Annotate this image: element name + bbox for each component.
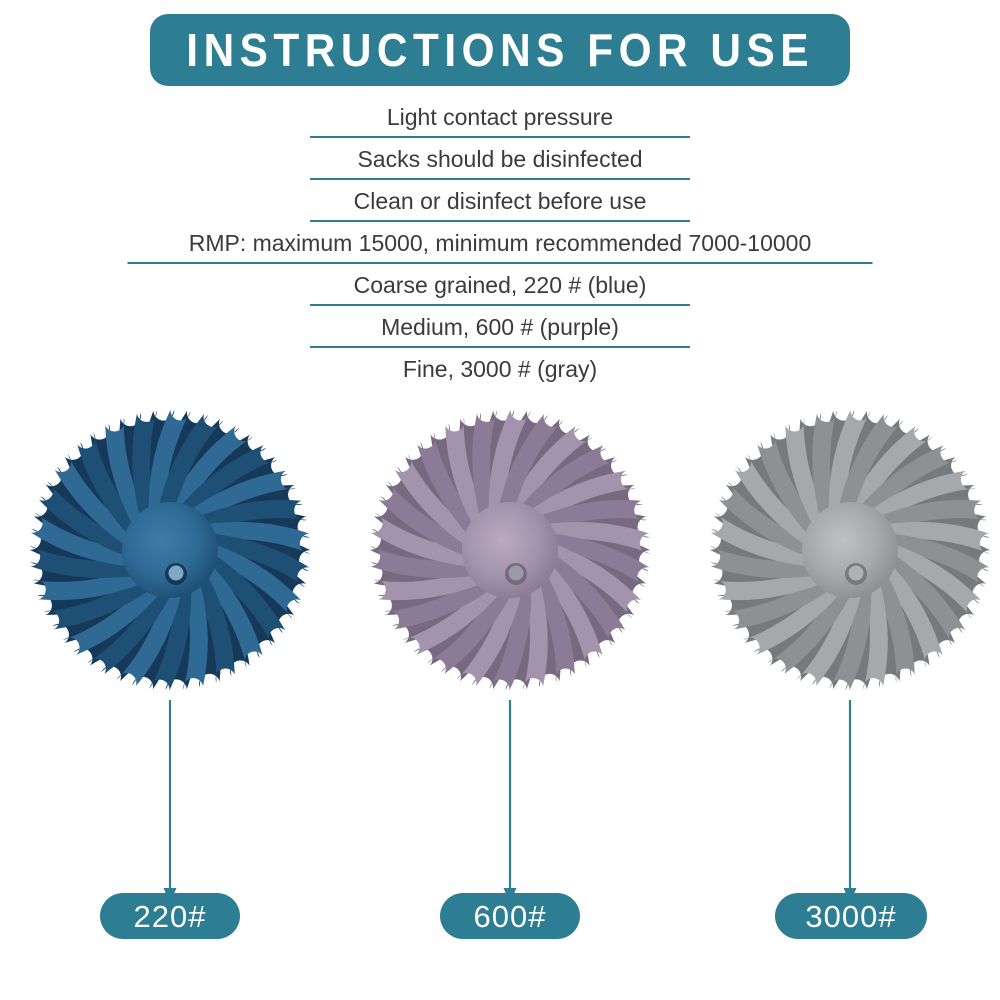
bristle-back xyxy=(191,554,249,676)
bristle-back xyxy=(506,567,540,690)
bristle xyxy=(193,552,262,668)
bristle xyxy=(87,578,178,674)
bristle xyxy=(490,571,532,691)
bristle-back xyxy=(799,413,834,539)
page-title: INSTRUCTIONS FOR USE xyxy=(186,27,814,73)
bristle xyxy=(868,522,990,554)
bristle-back xyxy=(459,413,494,539)
bristle xyxy=(182,500,307,535)
bristle-back xyxy=(52,574,169,643)
instruction-list: Light contact pressure Sacks should be d… xyxy=(0,96,1000,390)
bristle xyxy=(472,410,498,534)
bristle xyxy=(797,575,865,686)
instruction-text: RMP: maximum 15000, minimum recommended … xyxy=(189,232,812,255)
arbor-hole-shadow xyxy=(165,563,187,585)
bristle-back xyxy=(866,561,901,687)
instruction-text: Coarse grained, 220 # (blue) xyxy=(354,274,647,297)
grit-badge-220[interactable]: 220# xyxy=(100,893,240,939)
grit-badge-label: 220# xyxy=(134,901,207,932)
bristle xyxy=(724,571,844,629)
arbor-hole xyxy=(169,566,184,581)
bristle-back xyxy=(535,534,647,604)
instruction-text: Light contact pressure xyxy=(387,106,613,129)
bristle-back xyxy=(370,563,496,589)
bristle xyxy=(77,432,146,548)
bristle-back xyxy=(141,410,175,533)
bristle-back xyxy=(781,576,863,681)
disc-hub-plate xyxy=(96,476,244,624)
bristle-back xyxy=(876,547,955,658)
radial-bristle-disc-220 xyxy=(25,405,315,695)
arbor-hole-shadow xyxy=(505,563,527,585)
bristle xyxy=(829,410,871,530)
bristle xyxy=(868,559,915,683)
bristle-back xyxy=(538,540,635,633)
bristle-back xyxy=(171,457,288,526)
bristle xyxy=(735,454,823,555)
bristle-back xyxy=(717,569,842,615)
grit-badge-label: 600# xyxy=(474,901,547,932)
instruction-text: Medium, 600 # (purple) xyxy=(381,316,619,339)
bristle-back xyxy=(871,554,929,676)
bristle xyxy=(155,414,223,525)
grit-badge-label: 3000# xyxy=(805,901,896,932)
bristle xyxy=(149,410,191,530)
grit-badge-600[interactable]: 600# xyxy=(440,893,580,939)
bristle-back xyxy=(30,563,156,589)
instruction-row: Sacks should be disinfected xyxy=(0,138,1000,180)
bristle xyxy=(373,565,498,600)
bristle xyxy=(31,513,147,568)
connector-arrow-3000 xyxy=(838,700,862,905)
bristle xyxy=(384,571,504,629)
bristle-back xyxy=(732,574,849,643)
bristle xyxy=(719,482,823,562)
bristle-back xyxy=(101,576,183,681)
bristle xyxy=(711,513,827,568)
bristle xyxy=(537,538,641,618)
bristle-back xyxy=(370,529,490,573)
bristle-back xyxy=(30,529,150,573)
bristle-back xyxy=(875,534,987,604)
bristle xyxy=(197,538,301,618)
bristle xyxy=(39,482,143,562)
bristle-back xyxy=(132,572,189,689)
bristle xyxy=(533,552,602,668)
bristle xyxy=(743,575,852,655)
bristle xyxy=(168,445,277,525)
disc-hub-inner xyxy=(802,502,898,598)
bristle xyxy=(713,565,838,600)
bristle xyxy=(197,545,285,646)
bristle xyxy=(767,578,858,674)
bristle xyxy=(842,426,933,522)
connector-arrow-600 xyxy=(498,700,522,905)
bristle-back xyxy=(821,410,855,533)
instruction-text: Fine, 3000 # (gray) xyxy=(403,358,597,381)
bristle-back xyxy=(526,561,561,687)
bristle xyxy=(105,418,152,542)
bristle-back xyxy=(846,567,880,690)
disc-hub-plate xyxy=(776,476,924,624)
bristle-back xyxy=(710,529,830,573)
bristle xyxy=(44,571,164,629)
instruction-text: Sacks should be disinfected xyxy=(357,148,642,171)
bristle-back xyxy=(518,485,643,531)
bristle xyxy=(457,575,525,686)
bristle-back xyxy=(186,561,221,687)
bristle-back xyxy=(46,467,143,560)
bristle-back xyxy=(536,547,615,658)
bristle-back xyxy=(196,547,275,658)
bristle-back xyxy=(511,457,628,526)
bristle xyxy=(162,426,253,522)
bristle-back xyxy=(481,410,515,533)
bristle xyxy=(710,546,832,578)
bristle-back xyxy=(74,577,177,665)
radial-bristle-disc-3000 xyxy=(705,405,995,695)
bristle xyxy=(855,471,975,529)
bristle-back xyxy=(864,511,990,537)
bristle-back xyxy=(497,419,579,524)
bristle xyxy=(379,482,483,562)
bristle xyxy=(812,410,838,534)
bristle xyxy=(528,559,575,683)
radial-bristle-disc-600 xyxy=(365,405,655,695)
bristle xyxy=(445,418,492,542)
bristle xyxy=(193,532,309,587)
disc-hub-inner xyxy=(462,502,558,598)
bristle-back xyxy=(90,424,148,546)
bristle-back xyxy=(812,572,869,689)
bristle xyxy=(371,513,487,568)
arbor-hole-shadow xyxy=(845,563,867,585)
instruction-row: Fine, 3000 # (gray) xyxy=(0,348,1000,390)
bristle xyxy=(862,500,987,535)
bristle-back xyxy=(151,411,208,528)
bristle-back xyxy=(851,457,968,526)
bristle xyxy=(830,571,872,691)
disc-hub-inner xyxy=(122,502,218,598)
bristle-back xyxy=(166,567,200,690)
bristle xyxy=(370,546,492,578)
bristle xyxy=(848,445,957,525)
bristle-back xyxy=(710,563,836,589)
bristle-back xyxy=(745,442,824,553)
bristle-back xyxy=(843,435,946,523)
bristle xyxy=(522,565,548,689)
bristle-back xyxy=(377,569,502,615)
bristle-back xyxy=(754,577,857,665)
bristle-back xyxy=(441,576,523,681)
bristle-back xyxy=(531,554,589,676)
bristle-back xyxy=(770,424,828,546)
bristle-back xyxy=(878,540,975,633)
bristle-back xyxy=(524,511,650,537)
bristle-back xyxy=(837,419,919,524)
bristle xyxy=(403,575,512,655)
bristle xyxy=(508,445,617,525)
bristle-back xyxy=(190,527,310,571)
bristle xyxy=(150,571,192,691)
bristle xyxy=(537,545,625,646)
bristle-back xyxy=(831,411,888,528)
arbor-hole xyxy=(509,566,524,581)
bristle-back xyxy=(714,496,826,566)
bristle-back xyxy=(858,485,983,531)
bristle xyxy=(489,410,531,530)
bristle xyxy=(55,454,143,555)
instructions-header-banner: INSTRUCTIONS FOR USE xyxy=(150,14,850,86)
grit-badge-3000[interactable]: 3000# xyxy=(775,893,927,939)
bristle-back xyxy=(374,496,486,566)
bristle-back xyxy=(37,569,162,615)
bristle xyxy=(877,538,981,618)
bristle xyxy=(515,471,635,529)
bristle xyxy=(873,552,942,668)
instruction-row: Clean or disinfect before use xyxy=(0,180,1000,222)
bristle xyxy=(877,545,965,646)
arbor-hole xyxy=(849,566,864,581)
bristle xyxy=(63,575,172,655)
bristle-back xyxy=(530,527,650,571)
connector-arrow-220 xyxy=(158,700,182,905)
bristle xyxy=(188,522,310,554)
disc-hub-plate xyxy=(436,476,584,624)
bristle xyxy=(528,522,650,554)
bristle xyxy=(175,471,295,529)
instruction-row: Coarse grained, 220 # (blue) xyxy=(0,264,1000,306)
bristle-back xyxy=(195,534,307,604)
bristle-back xyxy=(491,411,548,528)
bristle-back xyxy=(157,419,239,524)
bristle-back xyxy=(163,435,266,523)
bristle-back xyxy=(119,413,154,539)
bristle xyxy=(522,500,647,535)
bristle-back xyxy=(503,435,606,523)
bristle xyxy=(30,546,152,578)
bristle xyxy=(117,575,185,686)
bristle xyxy=(33,565,158,600)
bristle xyxy=(427,578,518,674)
bristle xyxy=(182,565,208,689)
bristle xyxy=(862,565,888,689)
bristle xyxy=(533,532,649,587)
instruction-text: Clean or disinfect before use xyxy=(354,190,647,213)
bristle-back xyxy=(870,527,990,571)
bristle-back xyxy=(726,467,823,560)
bristle-back xyxy=(430,424,488,546)
bristle-back xyxy=(472,572,529,689)
bristle xyxy=(873,532,989,587)
bristle xyxy=(757,432,826,548)
instruction-row: Medium, 600 # (purple) xyxy=(0,306,1000,348)
bristle xyxy=(502,426,593,522)
bristle xyxy=(835,414,903,525)
bristle-back xyxy=(34,496,146,566)
bristle-back xyxy=(65,442,144,553)
instruction-row: RMP: maximum 15000, minimum recommended … xyxy=(0,222,1000,264)
bristle xyxy=(785,418,832,542)
bristle-back xyxy=(386,467,483,560)
bristle-back xyxy=(392,574,509,643)
bristle xyxy=(132,410,158,534)
instruction-row: Light contact pressure xyxy=(0,96,1000,138)
bristle xyxy=(395,454,483,555)
bristle-back xyxy=(184,511,310,537)
bristle xyxy=(417,432,486,548)
bristle xyxy=(188,559,235,683)
bristle-back xyxy=(405,442,484,553)
bristle-back xyxy=(178,485,303,531)
bristle-back xyxy=(414,577,517,665)
bristle xyxy=(495,414,563,525)
bristle-back xyxy=(198,540,295,633)
